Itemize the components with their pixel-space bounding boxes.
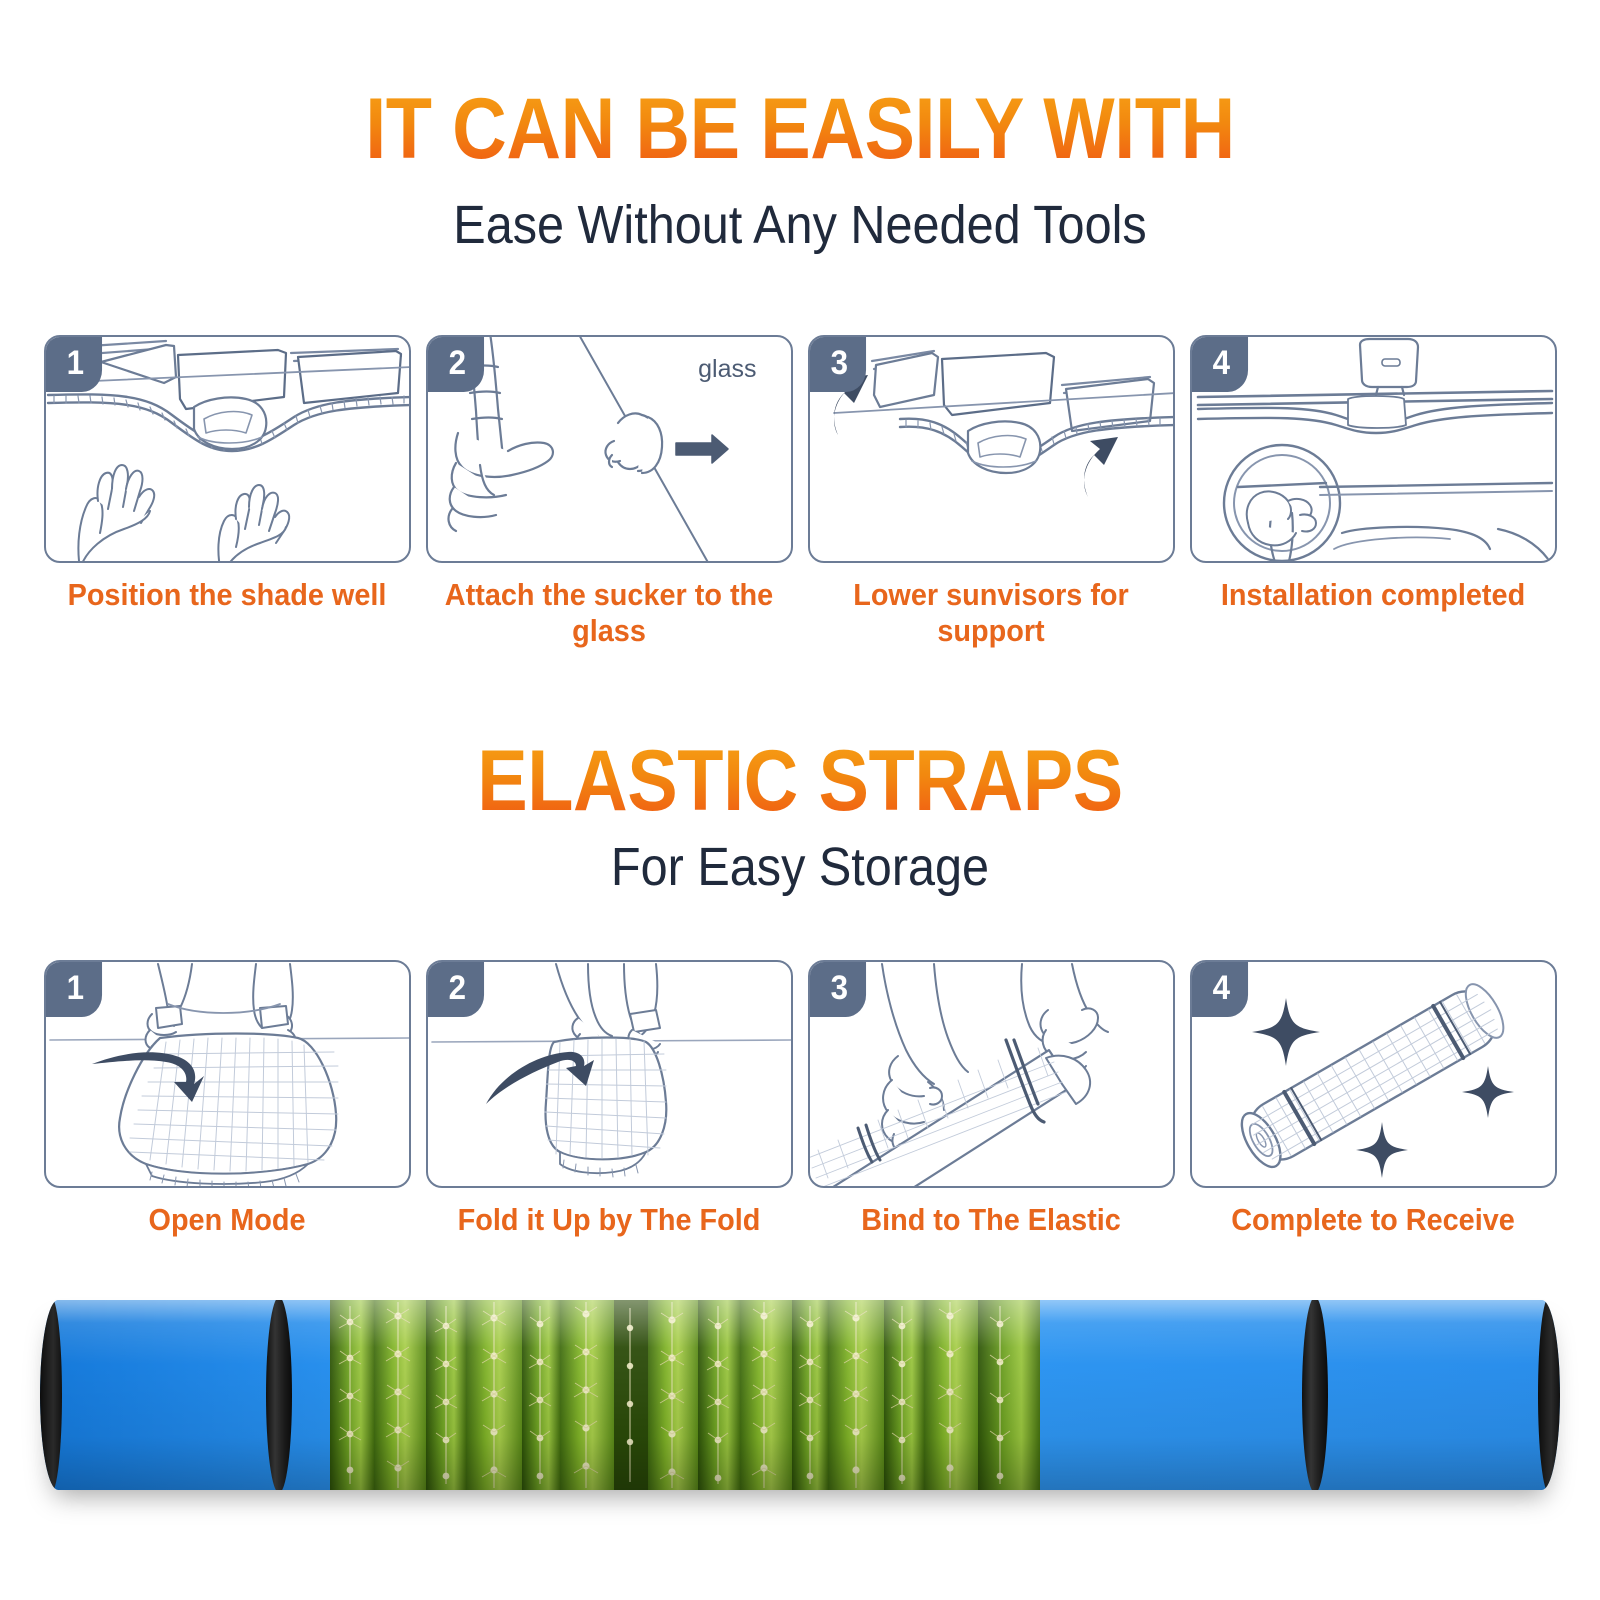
storage-step-2-caption: Fold it Up by The Fold bbox=[432, 1202, 785, 1238]
install-section-subtitle: Ease Without Any Needed Tools bbox=[80, 198, 1520, 252]
install-steps-row: 1 Position the shade well bbox=[0, 335, 1600, 650]
install-step-2: glass 2 Attach the sucker to the glass bbox=[426, 335, 793, 650]
install-step-2-number: 2 bbox=[427, 336, 484, 392]
storage-step-4-panel: 4 bbox=[1190, 960, 1557, 1188]
elastic-band-right-end bbox=[1538, 1300, 1560, 1490]
storage-step-2: 2 Fold it Up by The Fold bbox=[426, 960, 793, 1238]
install-step-1-caption: Position the shade well bbox=[50, 577, 403, 613]
glass-annotation-label: glass bbox=[698, 355, 756, 384]
storage-step-2-panel: 2 bbox=[426, 960, 793, 1188]
install-step-2-panel: glass 2 bbox=[426, 335, 793, 563]
install-step-4: 4 Installation completed bbox=[1190, 335, 1557, 650]
install-step-1: 1 Position the shade well bbox=[44, 335, 411, 650]
storage-step-4-caption: Complete to Receive bbox=[1196, 1202, 1549, 1238]
storage-steps-row: 1 Open Mode bbox=[0, 960, 1600, 1238]
install-step-3: 3 Lower sunvisors for support bbox=[808, 335, 1175, 650]
storage-step-1-panel: 1 bbox=[44, 960, 411, 1188]
storage-section-subtitle: For Easy Storage bbox=[80, 840, 1520, 894]
storage-step-4: 4 Complete to Receive bbox=[1190, 960, 1557, 1238]
install-step-4-panel: 4 bbox=[1190, 335, 1557, 563]
install-step-3-panel: 3 bbox=[808, 335, 1175, 563]
elastic-band-left-end bbox=[40, 1300, 62, 1490]
storage-step-4-number: 4 bbox=[1191, 961, 1248, 1017]
storage-section-title: ELASTIC STRAPS bbox=[96, 738, 1504, 824]
storage-step-3-number: 3 bbox=[809, 961, 866, 1017]
storage-step-2-number: 2 bbox=[427, 961, 484, 1017]
install-step-3-caption: Lower sunvisors for support bbox=[814, 577, 1167, 650]
install-step-4-caption: Installation completed bbox=[1196, 577, 1549, 613]
storage-step-3-panel: 3 bbox=[808, 960, 1175, 1188]
storage-step-1: 1 Open Mode bbox=[44, 960, 411, 1238]
elastic-band-left bbox=[266, 1300, 292, 1490]
storage-step-3-caption: Bind to The Elastic bbox=[814, 1202, 1167, 1238]
storage-step-1-number: 1 bbox=[45, 961, 102, 1017]
rolled-sunshade-with-cactus-print bbox=[40, 1300, 1560, 1490]
product-photo bbox=[40, 1300, 1560, 1490]
install-section-title: IT CAN BE EASILY WITH bbox=[96, 86, 1504, 172]
install-step-3-number: 3 bbox=[809, 336, 866, 392]
storage-step-1-caption: Open Mode bbox=[50, 1202, 403, 1238]
install-step-1-number: 1 bbox=[45, 336, 102, 392]
elastic-band-right bbox=[1302, 1300, 1328, 1490]
install-step-2-caption: Attach the sucker to the glass bbox=[432, 577, 785, 650]
storage-step-3: 3 Bind to The Elastic bbox=[808, 960, 1175, 1238]
install-step-1-panel: 1 bbox=[44, 335, 411, 563]
cactus-print-image bbox=[330, 1300, 1040, 1490]
install-step-4-number: 4 bbox=[1191, 336, 1248, 392]
